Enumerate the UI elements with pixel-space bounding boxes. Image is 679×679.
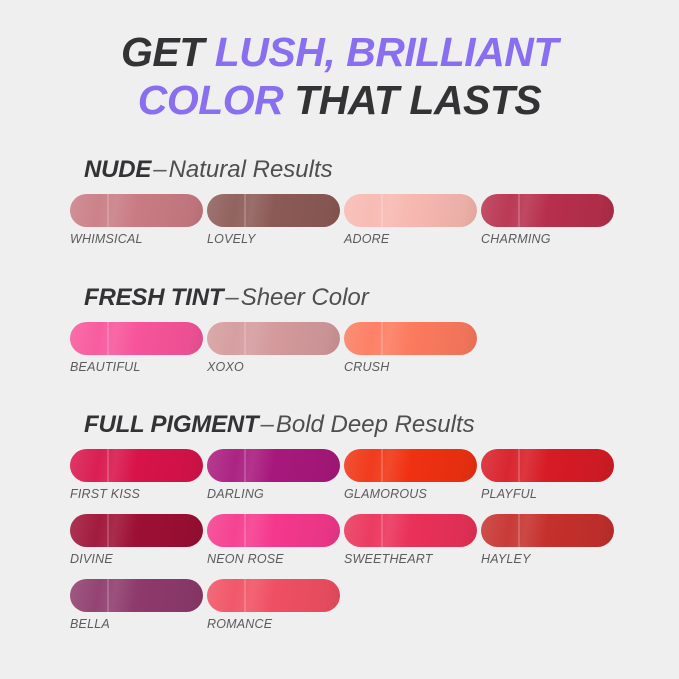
color-swatch[interactable] (70, 514, 203, 547)
swatch-cell[interactable]: NEON ROSE (207, 514, 342, 567)
swatch-row: DIVINE NEON ROSE SWEETHEART HAYLEY (70, 514, 679, 567)
swatch-label: DIVINE (70, 552, 205, 567)
section-fresh-tint-title: FRESH TINT–Sheer Color (0, 283, 679, 313)
swatch-label: CRUSH (344, 360, 479, 375)
color-swatch[interactable] (70, 194, 203, 227)
section-full-pigment-title: FULL PIGMENT–Bold Deep Results (0, 410, 679, 440)
section-full-pigment-subtitle: Bold Deep Results (276, 411, 475, 438)
swatch-label: SWEETHEART (344, 552, 479, 567)
swatch-label: GLAMOROUS (344, 487, 479, 502)
lipstick-shade-chart: GET LUSH, BRILLIANT COLOR THAT LASTS NUD… (0, 0, 679, 679)
color-swatch[interactable] (207, 194, 340, 227)
swatch-row: WHIMSICAL LOVELY ADORE CHARMING (70, 194, 679, 247)
color-swatch[interactable] (207, 322, 340, 355)
swatch-cell[interactable]: XOXO (207, 322, 342, 375)
swatch-cell[interactable]: BEAUTIFUL (70, 322, 205, 375)
swatch-cell[interactable]: WHIMSICAL (70, 194, 205, 247)
swatch-row: BEAUTIFUL XOXO CRUSH (70, 322, 679, 375)
swatch-label: WHIMSICAL (70, 232, 205, 247)
page-title: GET LUSH, BRILLIANT COLOR THAT LASTS (0, 28, 679, 124)
color-swatch[interactable] (344, 194, 477, 227)
headline-accent-1: LUSH, BRILLIANT (215, 29, 558, 75)
headline-get-text: GET (121, 29, 215, 75)
swatch-cell[interactable]: FIRST KISS (70, 449, 205, 502)
section-nude-title: NUDE–Natural Results (0, 155, 679, 185)
section-full-pigment-name: FULL PIGMENT (84, 411, 258, 438)
section-fresh-tint-dash: – (223, 284, 240, 311)
swatch-cell[interactable]: ADORE (344, 194, 479, 247)
swatch-label: LOVELY (207, 232, 342, 247)
color-swatch[interactable] (207, 449, 340, 482)
swatch-row: FIRST KISS DARLING GLAMOROUS PLAYFUL (70, 449, 679, 502)
swatch-label: PLAYFUL (481, 487, 616, 502)
color-swatch[interactable] (70, 449, 203, 482)
swatch-cell[interactable]: GLAMOROUS (344, 449, 479, 502)
swatch-cell[interactable]: LOVELY (207, 194, 342, 247)
swatch-cell[interactable]: SWEETHEART (344, 514, 479, 567)
swatch-label: FIRST KISS (70, 487, 205, 502)
section-nude-subtitle: Natural Results (169, 156, 333, 183)
color-swatch[interactable] (344, 449, 477, 482)
section-fresh-tint-name: FRESH TINT (84, 284, 223, 311)
section-full-pigment: FULL PIGMENT–Bold Deep Results FIRST KIS… (0, 410, 679, 644)
swatch-label: BEAUTIFUL (70, 360, 205, 375)
swatch-label: BELLA (70, 617, 205, 632)
swatch-cell[interactable]: ROMANCE (207, 579, 342, 632)
swatch-label: ADORE (344, 232, 479, 247)
color-swatch[interactable] (481, 194, 614, 227)
section-nude-dash: – (151, 156, 168, 183)
swatch-label: ROMANCE (207, 617, 342, 632)
swatch-cell[interactable]: BELLA (70, 579, 205, 632)
swatch-label: DARLING (207, 487, 342, 502)
swatch-cell[interactable]: DARLING (207, 449, 342, 502)
section-nude-name: NUDE (84, 156, 151, 183)
color-swatch[interactable] (344, 322, 477, 355)
swatch-cell[interactable]: HAYLEY (481, 514, 616, 567)
headline-accent-2: COLOR (138, 77, 284, 123)
swatch-label: NEON ROSE (207, 552, 342, 567)
swatch-grid-fresh-tint: BEAUTIFUL XOXO CRUSH (0, 313, 679, 375)
color-swatch[interactable] (344, 514, 477, 547)
section-fresh-tint-subtitle: Sheer Color (241, 284, 369, 311)
swatch-cell[interactable]: CRUSH (344, 322, 479, 375)
swatch-cell[interactable]: CHARMING (481, 194, 616, 247)
color-swatch[interactable] (70, 322, 203, 355)
swatch-cell[interactable]: DIVINE (70, 514, 205, 567)
color-swatch[interactable] (207, 514, 340, 547)
swatch-row: BELLA ROMANCE (70, 579, 679, 632)
swatch-label: HAYLEY (481, 552, 616, 567)
section-full-pigment-dash: – (258, 411, 275, 438)
color-swatch[interactable] (481, 514, 614, 547)
headline-line-2: COLOR THAT LASTS (0, 76, 679, 124)
swatch-cell[interactable]: PLAYFUL (481, 449, 616, 502)
swatch-grid-nude: WHIMSICAL LOVELY ADORE CHARMING (0, 185, 679, 247)
swatch-label: CHARMING (481, 232, 616, 247)
color-swatch[interactable] (70, 579, 203, 612)
color-swatch[interactable] (481, 449, 614, 482)
headline-line-1: GET LUSH, BRILLIANT (0, 28, 679, 76)
color-swatch[interactable] (207, 579, 340, 612)
section-nude: NUDE–Natural Results WHIMSICAL LOVELY AD… (0, 155, 679, 259)
section-fresh-tint: FRESH TINT–Sheer Color BEAUTIFUL XOXO CR… (0, 283, 679, 387)
headline-that-lasts-text: THAT LASTS (283, 77, 541, 123)
swatch-grid-full-pigment: FIRST KISS DARLING GLAMOROUS PLAYFUL (0, 440, 679, 632)
swatch-label: XOXO (207, 360, 342, 375)
